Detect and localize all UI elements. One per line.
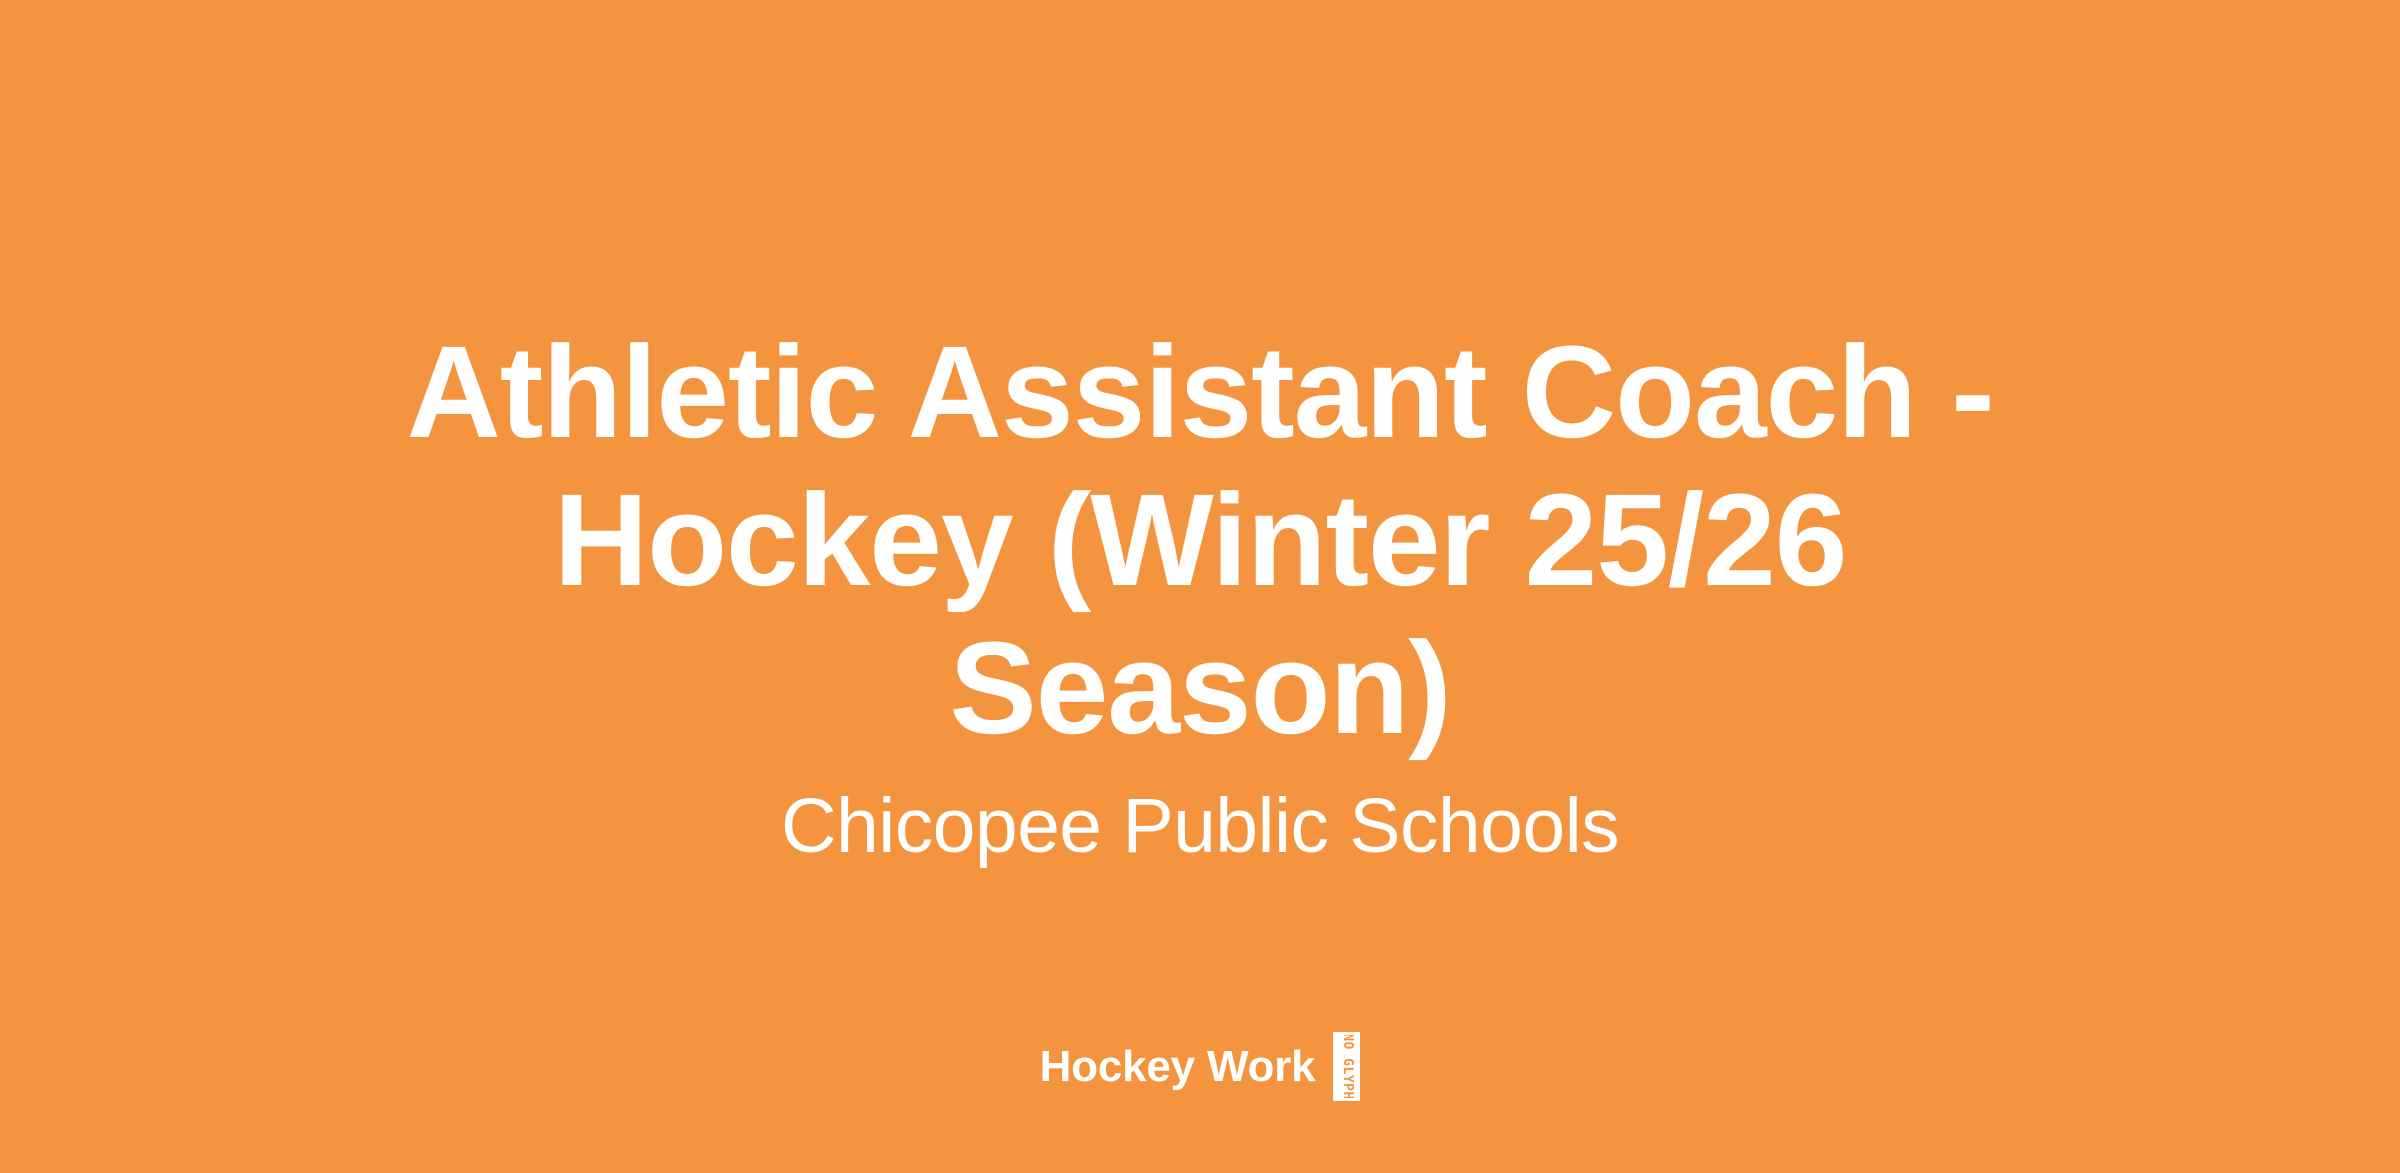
hero-text-block: Athletic Assistant Coach - Hockey (Winte… [0,318,2400,874]
missing-glyph-box-icon: NO GLYPH [1333,1032,1360,1101]
missing-glyph-label: NO GLYPH [1340,1033,1353,1100]
organization-name: Chicopee Public Schools [781,778,1619,874]
footer-branding: Hockey Work NO GLYPH [0,1032,2400,1101]
page-title: Athletic Assistant Coach - Hockey (Winte… [320,318,2080,762]
brand-name: Hockey Work [1040,1041,1316,1093]
job-share-card: Athletic Assistant Coach - Hockey (Winte… [0,0,2400,1173]
